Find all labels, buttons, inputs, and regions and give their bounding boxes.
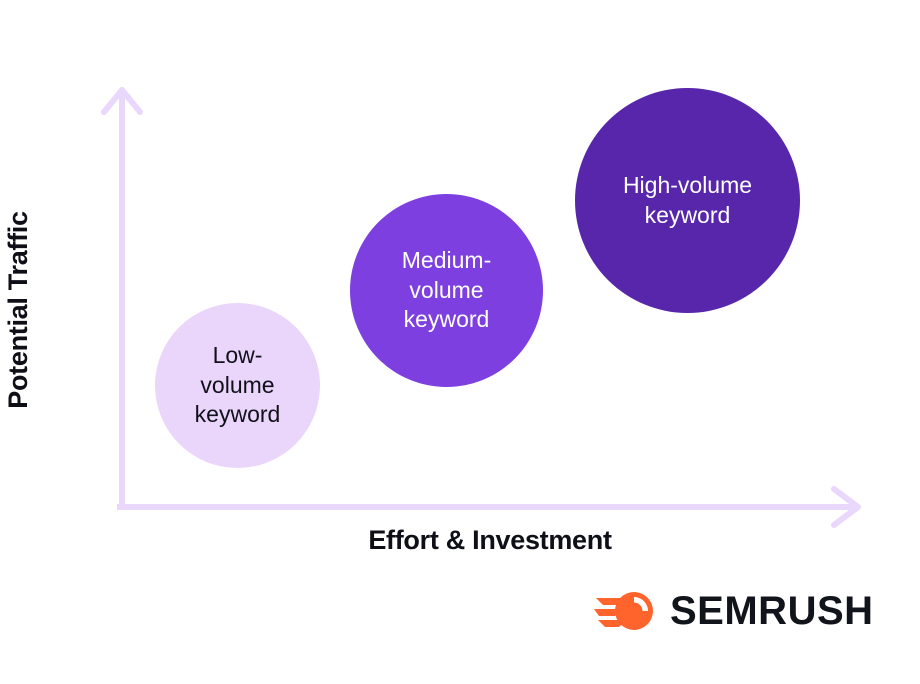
bubble-medium-volume-keyword[interactable]: Medium- volume keyword xyxy=(350,194,543,387)
bubble-low-volume-label: Low- volume keyword xyxy=(189,341,287,429)
semrush-comet-icon xyxy=(594,588,656,634)
y-axis-title: Potential Traffic xyxy=(0,170,36,450)
bubble-high-volume-keyword[interactable]: High-volume keyword xyxy=(575,88,800,313)
bubble-low-volume-keyword[interactable]: Low- volume keyword xyxy=(155,303,320,468)
chart-card: Potential Traffic Effort & Investment Lo… xyxy=(0,0,920,684)
semrush-wordmark: SEMRUSH xyxy=(670,591,874,631)
bubble-medium-volume-label: Medium- volume keyword xyxy=(396,246,497,334)
semrush-logo: SEMRUSH xyxy=(594,588,874,634)
x-axis-arrowhead xyxy=(834,489,858,525)
y-axis-arrowhead xyxy=(104,90,140,112)
x-axis-title: Effort & Investment xyxy=(120,525,860,556)
bubble-high-volume-label: High-volume keyword xyxy=(617,171,758,230)
